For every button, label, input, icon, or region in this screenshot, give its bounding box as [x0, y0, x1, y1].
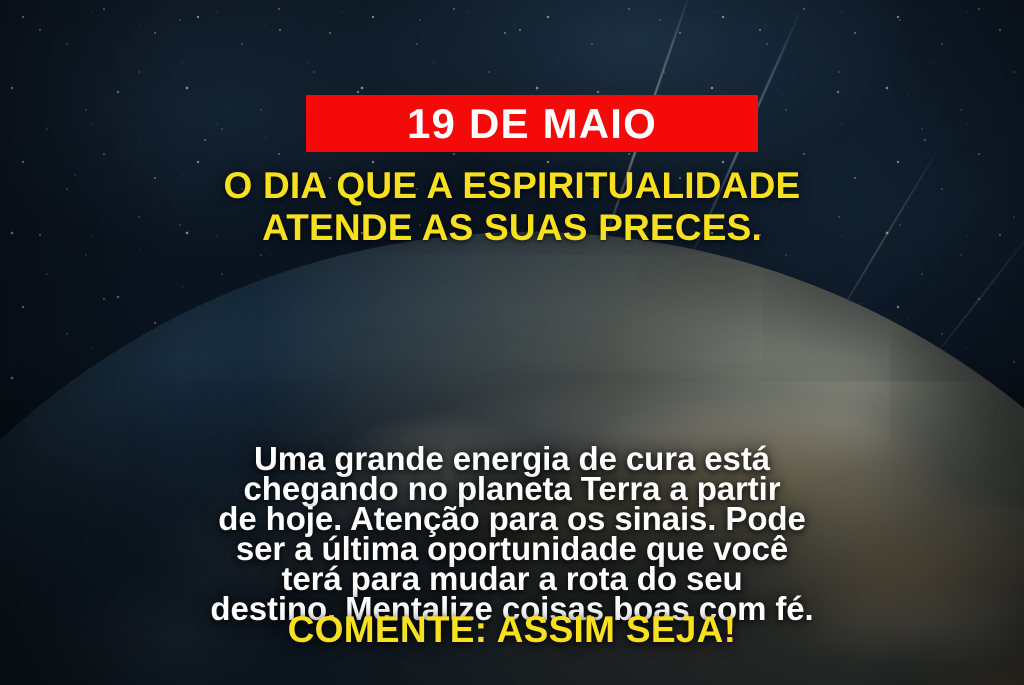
body-copy: Uma grande energia de cura está chegando… — [52, 444, 972, 624]
call-to-action-text: COMENTE: ASSIM SEJA! — [0, 611, 1024, 648]
date-banner: 19 DE MAIO — [306, 95, 758, 152]
poster-content: 19 DE MAIO O DIA QUE A ESPIRITUALIDADE A… — [0, 0, 1024, 685]
headline-line-1: O DIA QUE A ESPIRITUALIDADE — [0, 165, 1024, 207]
poster-canvas: 19 DE MAIO O DIA QUE A ESPIRITUALIDADE A… — [0, 0, 1024, 685]
headline: O DIA QUE A ESPIRITUALIDADE ATENDE AS SU… — [0, 165, 1024, 249]
headline-line-2: ATENDE AS SUAS PRECES. — [0, 207, 1024, 249]
date-banner-text: 19 DE MAIO — [407, 103, 657, 145]
